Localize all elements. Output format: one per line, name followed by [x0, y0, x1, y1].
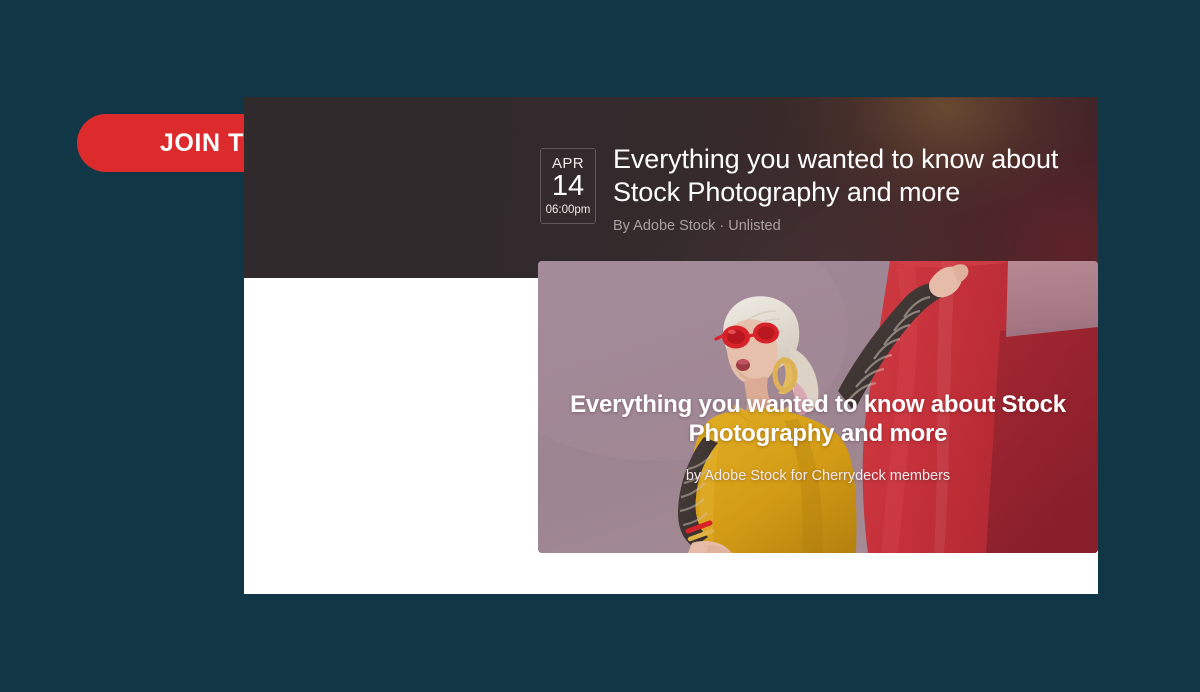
- promo-photo: [538, 261, 1098, 553]
- event-date-day: 14: [541, 171, 595, 202]
- event-card: APR 14 06:00pm Everything you wanted to …: [244, 97, 1098, 594]
- event-title: Everything you wanted to know about Stoc…: [613, 143, 1083, 209]
- event-byline: By Adobe Stock · Unlisted: [613, 217, 1083, 236]
- event-banner-text: Everything you wanted to know about Stoc…: [613, 143, 1083, 236]
- event-date-time: 06:00pm: [541, 203, 595, 217]
- event-date-badge: APR 14 06:00pm: [540, 148, 596, 224]
- event-banner: APR 14 06:00pm Everything you wanted to …: [244, 97, 1098, 278]
- promo-image[interactable]: Everything you wanted to know about Stoc…: [538, 261, 1098, 553]
